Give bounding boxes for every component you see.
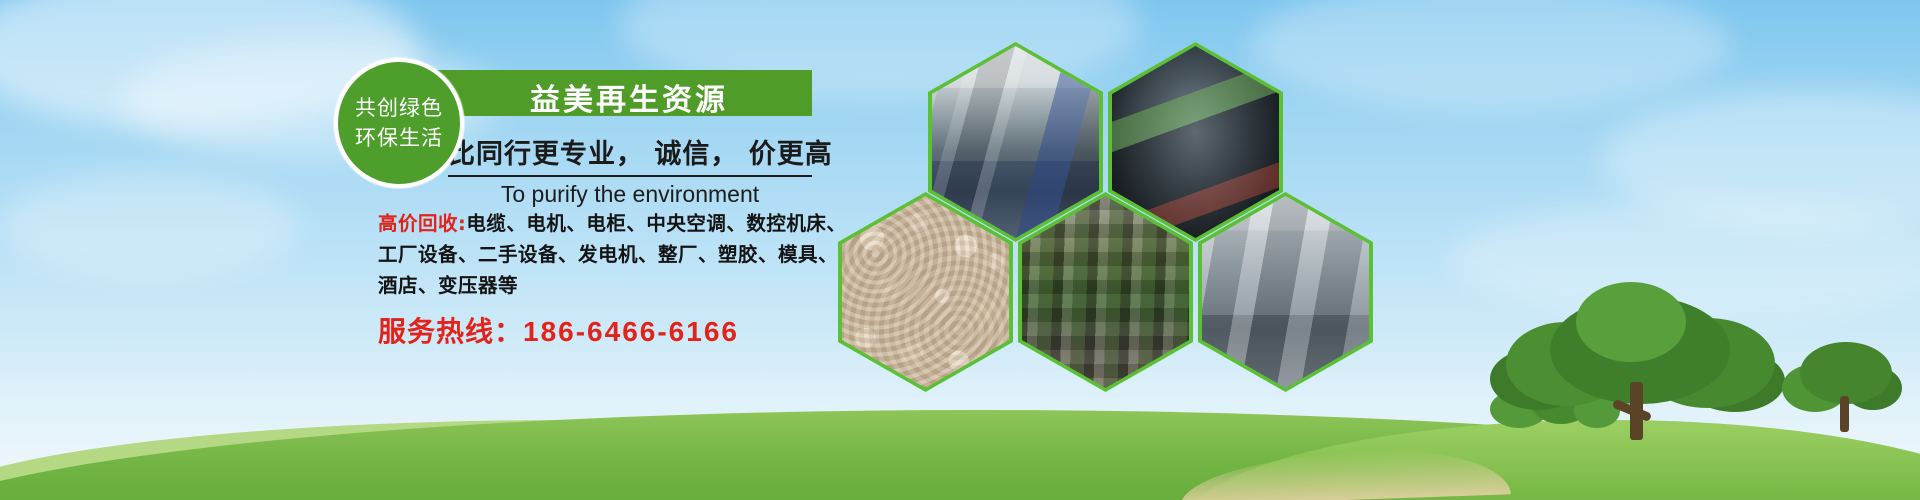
company-name: 益美再生资源 bbox=[530, 75, 728, 119]
eco-badge: 共创绿色 环保生活 bbox=[334, 58, 464, 188]
recycle-items-list: 高价回收:电缆、电机、电柜、中央空调、数控机床、 工厂设备、二手设备、发电机、整… bbox=[378, 208, 848, 301]
hotline-block: 服务热线：186-6466-6166 bbox=[378, 310, 739, 350]
recycle-items-line3: 酒店、变压器等 bbox=[378, 270, 848, 301]
recycle-items-line1: 电缆、电机、电柜、中央空调、数控机床、 bbox=[466, 212, 846, 235]
recycle-line-1: 高价回收:电缆、电机、电柜、中央空调、数控机床、 bbox=[378, 208, 848, 239]
small-tree-icon bbox=[1782, 334, 1902, 430]
hotline-number: 186-6466-6166 bbox=[523, 316, 739, 347]
cloud-decoration bbox=[0, 170, 300, 280]
eco-badge-line2: 环保生活 bbox=[355, 123, 443, 153]
recycle-label: 高价回收: bbox=[378, 212, 466, 235]
slogan-english: To purify the environment bbox=[448, 181, 812, 208]
eco-badge-line1: 共创绿色 bbox=[355, 93, 443, 123]
tree-icon bbox=[1490, 278, 1790, 438]
recycling-company-banner: 益美再生资源 共创绿色 环保生活 比同行更专业， 诚信， 价更高 To puri… bbox=[0, 0, 1920, 500]
slogan-chinese: 比同行更专业， 诚信， 价更高 bbox=[448, 132, 820, 171]
slogan-block: 比同行更专业， 诚信， 价更高 To purify the environmen… bbox=[448, 132, 820, 208]
slogan-divider bbox=[448, 175, 812, 177]
recycle-items-line2: 工厂设备、二手设备、发电机、整厂、塑胶、模具、 bbox=[378, 239, 848, 270]
photo-collage bbox=[820, 20, 1440, 400]
hotline-label: 服务热线： bbox=[378, 315, 523, 348]
